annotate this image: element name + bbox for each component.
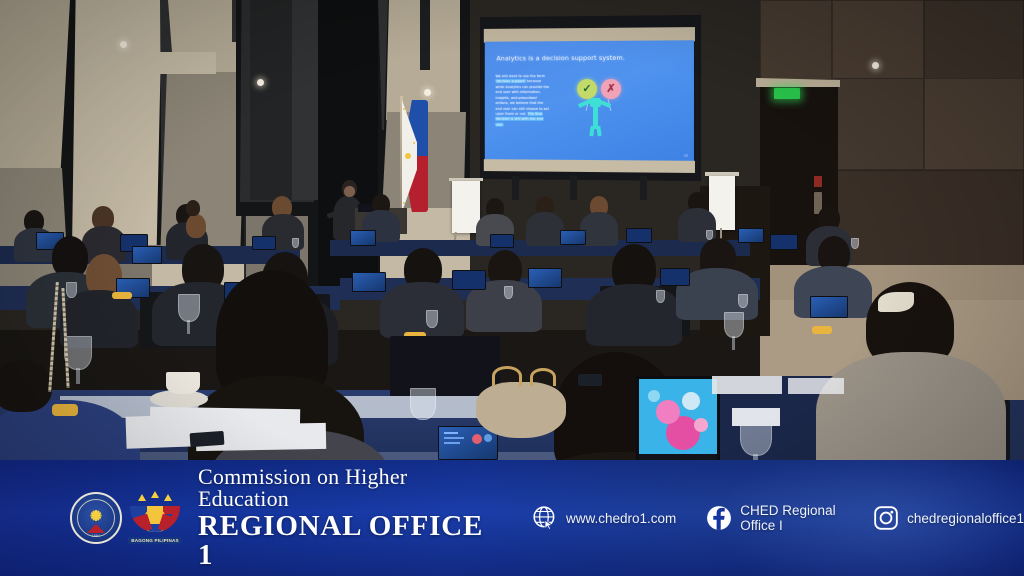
ched-seal-logo: 1994 bbox=[70, 492, 122, 544]
coffee-cup bbox=[166, 372, 200, 394]
organization-line-2: REGIONAL OFFICE 1 bbox=[198, 512, 484, 570]
mobile-phone bbox=[190, 431, 225, 447]
fire-extinguisher-sign bbox=[814, 176, 822, 187]
handbag bbox=[476, 382, 566, 438]
screenshot-root: Analytics is a decision support system. … bbox=[0, 0, 1024, 576]
snack-plate bbox=[52, 404, 78, 416]
napkin bbox=[732, 408, 780, 426]
screen-leg bbox=[512, 176, 519, 200]
organization-name: Commission on Higher Education REGIONAL … bbox=[198, 466, 484, 570]
screen-leg bbox=[570, 176, 577, 200]
bagong-pilipinas-label: BAGONG PILIPINAS bbox=[128, 537, 182, 544]
instagram-icon bbox=[873, 505, 899, 531]
website-link[interactable]: www.chedro1.com bbox=[532, 505, 676, 531]
instagram-label: chedregionaloffice1 bbox=[907, 511, 1024, 526]
screen-leg bbox=[640, 176, 647, 200]
projection-screen: Analytics is a decision support system. … bbox=[480, 15, 701, 181]
globe-icon bbox=[532, 505, 558, 531]
slide-title: Analytics is a decision support system. bbox=[496, 53, 685, 62]
snack-plate bbox=[112, 292, 132, 299]
cross-icon: ✗ bbox=[601, 79, 621, 99]
exit-sign bbox=[774, 88, 800, 99]
website-label: www.chedro1.com bbox=[566, 511, 676, 526]
decision-figure-graphic: ✓ ✗ bbox=[571, 79, 631, 149]
presentation-slide: Analytics is a decision support system. … bbox=[485, 40, 694, 162]
sun-rays-icon bbox=[85, 504, 107, 526]
social-links: www.chedro1.com CHED Regional Office I bbox=[532, 503, 1024, 533]
check-icon: ✓ bbox=[577, 79, 597, 99]
snack-plate bbox=[812, 326, 832, 334]
seal-year: 1994 bbox=[92, 534, 100, 538]
screen-bottom-band bbox=[484, 159, 695, 173]
footer-banner: 1994 BAGONG PILIPINAS bbox=[0, 460, 1024, 576]
bagong-pilipinas-logo: BAGONG PILIPINAS bbox=[126, 492, 184, 544]
instagram-link[interactable]: chedregionaloffice1 bbox=[873, 505, 1024, 531]
laptop-floral bbox=[636, 376, 720, 462]
facebook-label: CHED Regional Office I bbox=[740, 503, 843, 533]
facebook-icon bbox=[706, 505, 732, 531]
slide-page-number: 18 bbox=[684, 154, 688, 158]
facebook-link[interactable]: CHED Regional Office I bbox=[706, 503, 843, 533]
slide-body-text: We still want to use the term 'decision … bbox=[495, 74, 549, 128]
organization-line-1: Commission on Higher Education bbox=[198, 466, 484, 510]
